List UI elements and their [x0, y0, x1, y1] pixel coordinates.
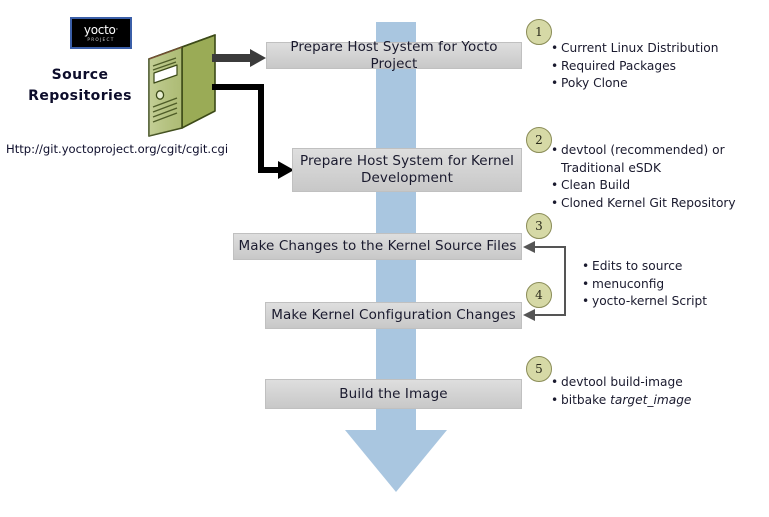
bullet-dot-icon: •	[582, 258, 592, 276]
source-label-line2: Repositories	[20, 86, 140, 107]
source-label-line1: Source	[20, 65, 140, 86]
bullet-dot-icon: •	[551, 177, 561, 195]
bullet-dot-icon: •	[582, 276, 592, 294]
logo-wordmark: yocto·	[84, 24, 118, 36]
step5-bitbake-line: bitbake target_image	[561, 392, 751, 410]
bullet-dot-icon: •	[551, 58, 561, 76]
bullet-dot-icon: •	[551, 374, 561, 392]
workflow-spine-arrowhead	[345, 430, 447, 492]
step-1-bullets: • Current Linux Distribution • Required …	[551, 40, 756, 93]
step-2-box-line1: Prepare Host System for Kernel	[300, 153, 514, 170]
logo-dot-glyph: ·	[116, 25, 119, 35]
list-item: • Clean Build	[551, 177, 751, 195]
list-item: • yocto-kernel Script	[582, 293, 757, 311]
bitbake-command-prefix: bitbake	[561, 393, 610, 407]
bullet-dot-icon: •	[551, 392, 561, 410]
list-item: • Poky Clone	[551, 75, 756, 93]
source-repository-url: Http://git.yoctoproject.org/cgit/cgit.cg…	[6, 142, 228, 156]
list-item: • menuconfig	[582, 276, 757, 294]
connector-server-to-step1-arrowhead	[250, 49, 266, 67]
bullet-dot-icon: •	[551, 195, 561, 213]
step-4-box[interactable]: Make Kernel Configuration Changes	[265, 302, 522, 329]
bullet-dot-icon: •	[551, 142, 561, 160]
workflow-diagram: yocto· PROJECT Source Repositories Http:…	[0, 0, 769, 517]
step-5-bullets: • devtool build-image • bitbake target_i…	[551, 374, 751, 409]
list-item: • bitbake target_image	[551, 392, 751, 410]
step-2-badge: 2	[526, 127, 552, 153]
bullet-dot-icon: •	[551, 75, 561, 93]
workflow-spine-bar	[376, 22, 416, 432]
steps-3-4-shared-bullets: • Edits to source • menuconfig • yocto-k…	[582, 258, 757, 311]
bracket-connector-vertical	[564, 246, 566, 316]
connector-server-to-step2-horiz1	[212, 84, 264, 90]
step-4-badge: 4	[526, 282, 552, 308]
step-3-box[interactable]: Make Changes to the Kernel Source Files	[233, 233, 522, 260]
logo-subtitle: PROJECT	[87, 37, 114, 43]
server-tower-icon	[136, 33, 220, 138]
bracket-connector-bottom-arm	[535, 314, 566, 316]
bullet-dot-icon: •	[582, 293, 592, 311]
connector-server-to-step1-line	[212, 54, 254, 62]
list-item: • Cloned Kernel Git Repository	[551, 195, 751, 213]
list-item: • Edits to source	[582, 258, 757, 276]
bracket-arrowhead-to-step4	[523, 309, 535, 321]
source-repositories-label: Source Repositories	[20, 65, 140, 107]
bitbake-target-image-arg: target_image	[610, 393, 691, 407]
step-5-box[interactable]: Build the Image	[265, 379, 522, 409]
step-2-box[interactable]: Prepare Host System for Kernel Developme…	[292, 148, 522, 192]
list-item: • devtool build-image	[551, 374, 751, 392]
list-item: • Required Packages	[551, 58, 756, 76]
yocto-project-logo: yocto· PROJECT	[70, 17, 132, 49]
bracket-arrowhead-to-step3	[523, 241, 535, 253]
step-3-badge: 3	[526, 213, 552, 239]
step-5-badge: 5	[526, 356, 552, 382]
step-2-box-line2: Development	[361, 170, 453, 187]
step-2-bullets: • devtool (recommended) or Traditional e…	[551, 142, 751, 212]
list-item: • Current Linux Distribution	[551, 40, 756, 58]
step-1-badge: 1	[526, 19, 552, 45]
bracket-connector-top-arm	[535, 246, 566, 248]
list-item: • devtool (recommended) or Traditional e…	[551, 142, 751, 177]
step-1-box[interactable]: Prepare Host System for Yocto Project	[266, 42, 522, 69]
bullet-dot-icon: •	[551, 40, 561, 58]
connector-server-to-step2-vert	[258, 84, 264, 170]
